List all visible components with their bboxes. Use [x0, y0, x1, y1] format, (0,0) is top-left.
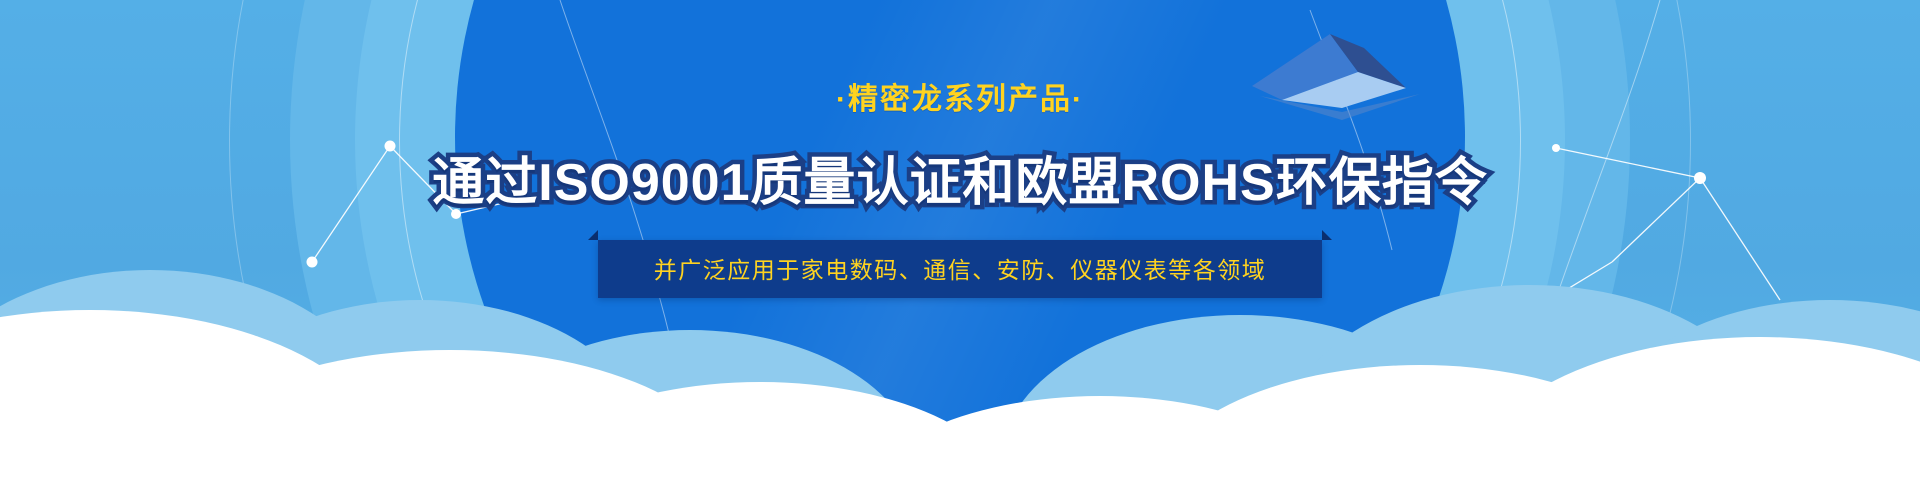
promo-banner: ·精密龙系列产品· 通过ISO9001质量认证和欧盟ROHS环保指令 并广泛应用…: [0, 0, 1920, 480]
banner-content: ·精密龙系列产品· 通过ISO9001质量认证和欧盟ROHS环保指令 并广泛应用…: [0, 0, 1920, 480]
ribbon-fold-right-icon: [1322, 230, 1332, 240]
subtitle-ribbon: 并广泛应用于家电数码、通信、安防、仪器仪表等各领域: [598, 240, 1323, 298]
ribbon-fold-left-icon: [588, 230, 598, 240]
ribbon-wrapper: 并广泛应用于家电数码、通信、安防、仪器仪表等各领域: [0, 240, 1920, 298]
ribbon-text: 并广泛应用于家电数码、通信、安防、仪器仪表等各领域: [654, 257, 1267, 283]
eyebrow-text: ·精密龙系列产品·: [0, 74, 1920, 118]
headline-text: 通过ISO9001质量认证和欧盟ROHS环保指令: [0, 140, 1920, 215]
